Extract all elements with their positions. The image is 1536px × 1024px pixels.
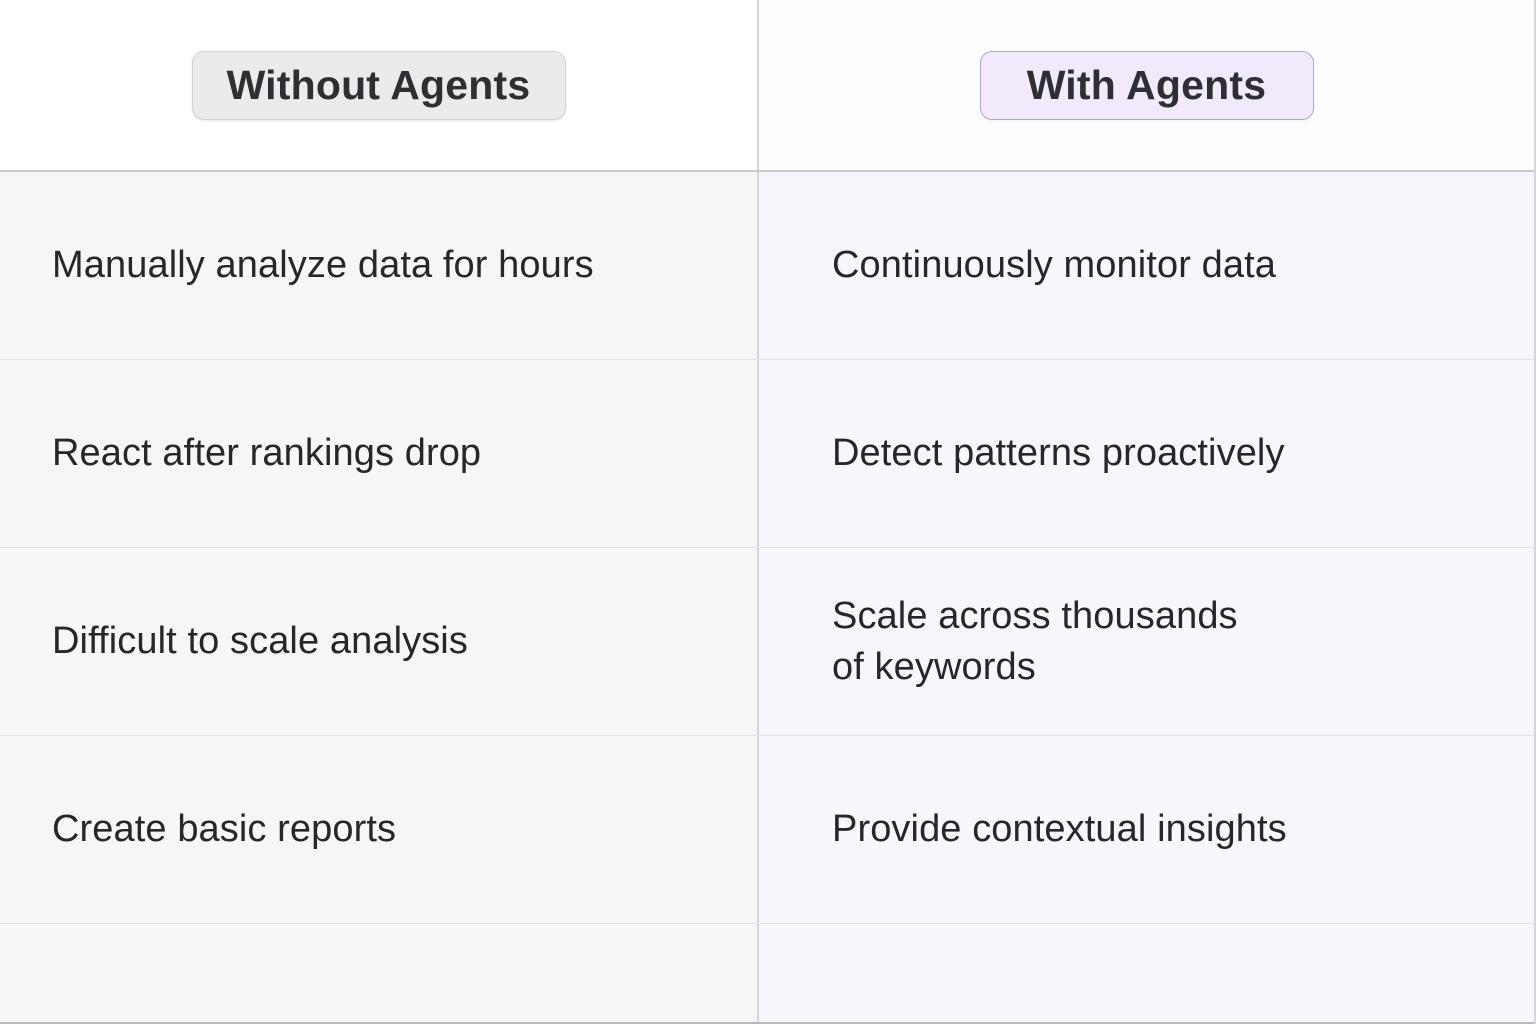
cell-text: React after rankings drop — [52, 428, 481, 478]
header-cell-with-agents: With Agents — [759, 0, 1534, 170]
table-body: Manually analyze data for hours Continuo… — [0, 172, 1534, 1024]
column-badge-without-agents[interactable]: Without Agents — [192, 51, 566, 120]
table-row — [0, 924, 1534, 1024]
cell-with-agents: Scale across thousands of keywords — [759, 548, 1534, 735]
header-cell-without-agents: Without Agents — [0, 0, 759, 170]
column-badge-with-agents[interactable]: With Agents — [980, 51, 1314, 120]
table-row: Manually analyze data for hours Continuo… — [0, 172, 1534, 360]
cell-without-agents — [0, 924, 759, 1022]
cell-text: Scale across thousands of keywords — [832, 591, 1238, 691]
cell-with-agents: Provide contextual insights — [759, 736, 1534, 923]
cell-text: Difficult to scale analysis — [52, 616, 468, 666]
cell-with-agents — [759, 924, 1534, 1022]
table-row: React after rankings drop Detect pattern… — [0, 360, 1534, 548]
cell-without-agents: Manually analyze data for hours — [0, 172, 759, 359]
table-header-row: Without Agents With Agents — [0, 0, 1534, 172]
table-row: Difficult to scale analysis Scale across… — [0, 548, 1534, 736]
cell-without-agents: Create basic reports — [0, 736, 759, 923]
cell-text: Provide contextual insights — [832, 804, 1287, 854]
table-row: Create basic reports Provide contextual … — [0, 736, 1534, 924]
cell-without-agents: React after rankings drop — [0, 360, 759, 547]
cell-with-agents: Continuously monitor data — [759, 172, 1534, 359]
cell-with-agents: Detect patterns proactively — [759, 360, 1534, 547]
cell-text: Continuously monitor data — [832, 240, 1276, 290]
cell-text: Detect patterns proactively — [832, 428, 1285, 478]
cell-text: Create basic reports — [52, 804, 396, 854]
cell-text: Manually analyze data for hours — [52, 240, 594, 290]
cell-without-agents: Difficult to scale analysis — [0, 548, 759, 735]
comparison-table: Without Agents With Agents Manually anal… — [0, 0, 1536, 1024]
